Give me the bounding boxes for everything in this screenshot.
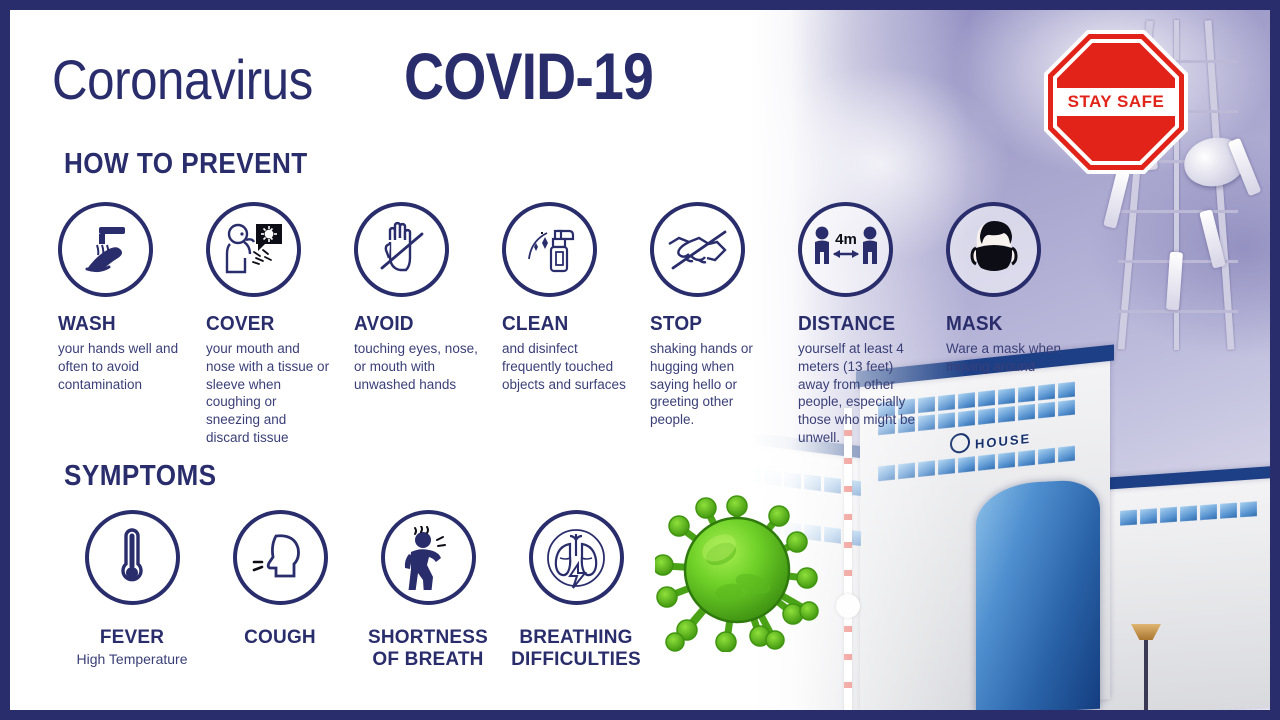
prevention-item-distance: 4m DISTANCE yourself at least 4 meters (… bbox=[798, 202, 946, 447]
prevention-list: WASH your hands well and often to avoid … bbox=[58, 202, 1076, 447]
prevention-item-avoid: AVOID touching eyes, nose, or mouth with… bbox=[354, 202, 502, 447]
prevention-desc: shaking hands or hugging when saying hel… bbox=[650, 340, 776, 429]
symptom-item-fever: FEVER High Temperature bbox=[58, 510, 206, 674]
prevention-item-wash: WASH your hands well and often to avoid … bbox=[58, 202, 206, 447]
prevention-desc: and disinfect frequently touched objects… bbox=[502, 340, 628, 393]
green-coronavirus-particle bbox=[655, 492, 820, 652]
covid-infographic-poster: HOUSE STAY SAFE Coronavirus COVID-19 HOW… bbox=[0, 0, 1280, 720]
prevention-title: MASK bbox=[946, 313, 1070, 336]
symptom-item-breathing-difficulties: BREATHING DIFFICULTIES bbox=[502, 510, 650, 674]
hand-washing-faucet-icon bbox=[58, 202, 153, 297]
symptoms-list: FEVER High Temperature COUGH bbox=[58, 510, 650, 674]
prevention-title: COVER bbox=[206, 313, 347, 336]
symptom-title: SHORTNESS OF BREATH bbox=[354, 627, 502, 672]
prevention-desc: Ware a mask when moving around bbox=[946, 340, 1072, 376]
spray-bottle-clean-icon bbox=[502, 202, 597, 297]
person-short-of-breath-icon bbox=[381, 510, 476, 605]
social-distance-4m-icon: 4m bbox=[798, 202, 893, 297]
symptom-item-cough: COUGH bbox=[206, 510, 354, 674]
no-touching-hand-icon bbox=[354, 202, 449, 297]
prevention-desc: yourself at least 4 meters (13 feet) awa… bbox=[798, 340, 924, 447]
face-mask-icon bbox=[946, 202, 1041, 297]
prevention-title: AVOID bbox=[354, 313, 495, 336]
person-coughing-virus-icon bbox=[206, 202, 301, 297]
lungs-lightning-icon bbox=[529, 510, 624, 605]
poster-title: Coronavirus COVID-19 bbox=[52, 38, 701, 114]
section-heading-symptoms: SYMPTOMS bbox=[64, 460, 216, 493]
symptom-title: BREATHING DIFFICULTIES bbox=[502, 627, 650, 672]
prevention-desc: your mouth and nose with a tissue or sle… bbox=[206, 340, 332, 447]
prevention-desc: your hands well and often to avoid conta… bbox=[58, 340, 184, 393]
symptom-title: FEVER bbox=[58, 627, 206, 649]
prevention-title: STOP bbox=[650, 313, 791, 336]
symptom-subtitle: High Temperature bbox=[58, 651, 206, 669]
prevention-title: WASH bbox=[58, 313, 199, 336]
stop-sign-band: STAY SAFE bbox=[1057, 88, 1175, 116]
head-coughing-icon bbox=[233, 510, 328, 605]
symptom-item-shortness-of-breath: SHORTNESS OF BREATH bbox=[354, 510, 502, 674]
prevention-desc: touching eyes, nose, or mouth with unwas… bbox=[354, 340, 480, 393]
symptom-title: COUGH bbox=[206, 627, 354, 649]
stay-safe-label: STAY SAFE bbox=[1068, 92, 1165, 111]
prevention-item-cover: COVER your mouth and nose with a tissue … bbox=[206, 202, 354, 447]
thermometer-icon bbox=[85, 510, 180, 605]
title-covid19: COVID-19 bbox=[404, 38, 653, 114]
prevention-title: CLEAN bbox=[502, 313, 643, 336]
prevention-item-stop: STOP shaking hands or hugging when sayin… bbox=[650, 202, 798, 447]
no-handshake-icon bbox=[650, 202, 745, 297]
section-heading-prevent: HOW TO PREVENT bbox=[64, 148, 308, 181]
distance-value-label: 4m bbox=[835, 231, 857, 248]
prevention-title: DISTANCE bbox=[798, 313, 939, 336]
title-coronavirus: Coronavirus bbox=[52, 47, 313, 112]
prevention-item-mask: MASK Ware a mask when moving around bbox=[946, 202, 1076, 447]
prevention-item-clean: CLEAN and disinfect frequently touched o… bbox=[502, 202, 650, 447]
